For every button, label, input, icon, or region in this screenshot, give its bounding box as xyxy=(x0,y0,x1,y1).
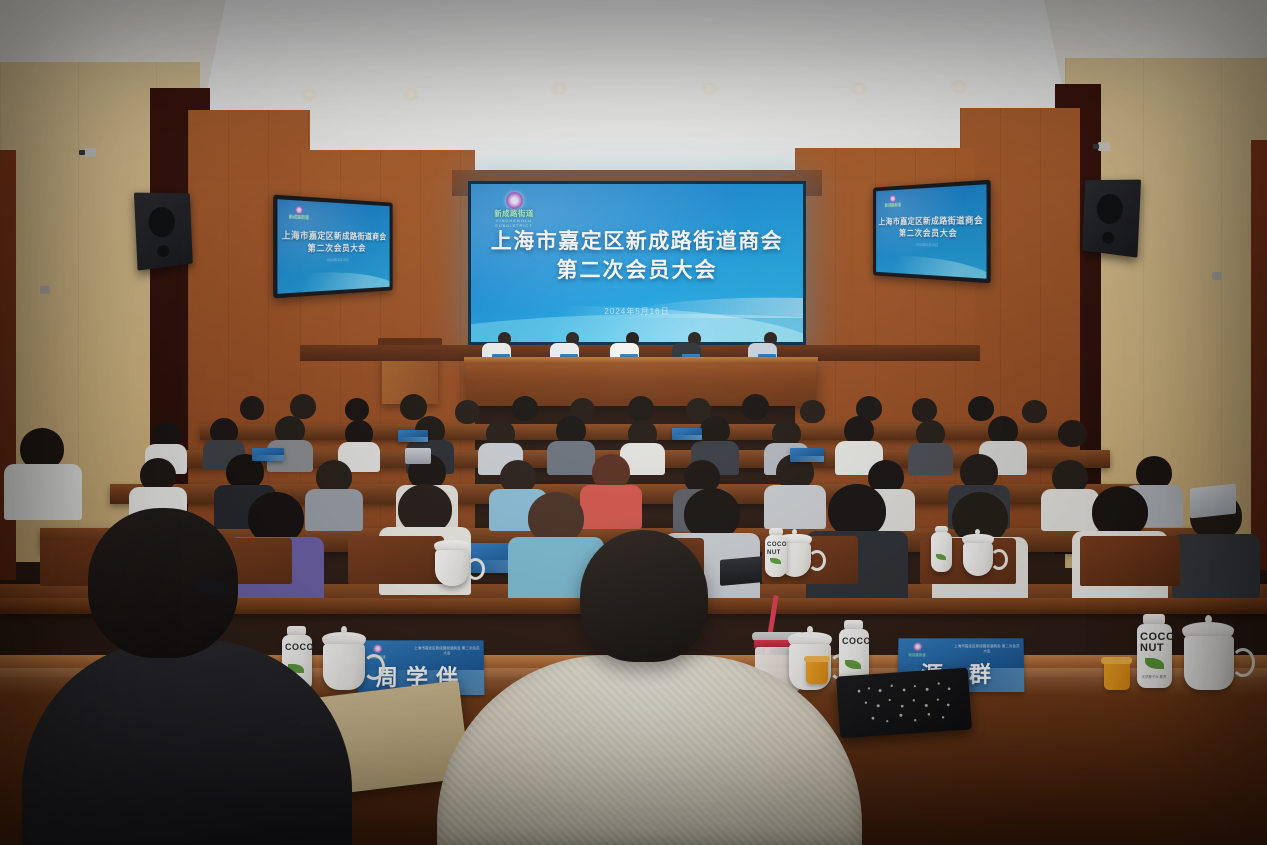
bottle-label-line1: COCO xyxy=(285,642,314,652)
ceiling-camera-icon xyxy=(84,148,96,157)
right-wall-speaker xyxy=(1082,180,1141,258)
laptop xyxy=(1190,484,1236,519)
tablet xyxy=(720,556,764,586)
screen-title-line1: 上海市嘉定区新成路街道商会 xyxy=(471,228,803,256)
downlight-icon xyxy=(402,88,420,101)
monitor-date: 2024年5月16日 xyxy=(876,242,986,249)
right-wall-monitor: 新成路街道 上海市嘉定区新成路街道商会 第二次会员大会 2024年5月16日 xyxy=(873,180,991,284)
downlight-icon xyxy=(300,88,318,101)
left-wall-monitor: 新成路街道 上海市嘉定区新成路街道商会 第二次会员大会 2024年5月16日 xyxy=(273,195,393,299)
left-wall-speaker xyxy=(134,193,193,271)
screen-date: 2024年5月16日 xyxy=(471,306,803,317)
nameplate xyxy=(672,428,702,440)
conference-hall-photo: 新成路街道 上海市嘉定区新成路街道商会 第二次会员大会 2024年5月16日 新… xyxy=(0,0,1267,845)
bottle-label-line2: NUT xyxy=(767,548,781,558)
nameplate-header: 上海市嘉定区新成路街道商会 第二次会员大会 xyxy=(414,646,480,656)
nameplate xyxy=(252,448,284,461)
nameplate xyxy=(790,448,824,462)
laptop xyxy=(405,448,431,464)
monitor-logo-text: 新成路街道 xyxy=(881,202,905,208)
monitor-logo-text: 新成路街道 xyxy=(284,214,314,220)
head-table-edge xyxy=(464,357,818,364)
monitor-title-line1: 上海市嘉定区新成路街道商会 xyxy=(277,230,389,243)
emblem-icon xyxy=(506,192,523,209)
wall-sensor-icon xyxy=(40,286,50,294)
screen-title-block: 上海市嘉定区新成路街道商会 第二次会员大会 xyxy=(471,228,803,286)
nameplate xyxy=(398,430,428,442)
orange-cup xyxy=(806,660,828,684)
downlight-icon xyxy=(700,82,718,95)
wall-sensor-icon xyxy=(1212,272,1222,280)
logo-subtitle: XINCHENGLU SUBDISTRICT xyxy=(483,218,545,228)
logo-word: 新成路街道 xyxy=(483,209,545,218)
screen-title-line2: 第二次会员大会 xyxy=(471,256,803,286)
nameplate-logo-icon xyxy=(913,642,922,651)
monitor-title-line1: 上海市嘉定区新成路街道商会 xyxy=(876,215,986,228)
downlight-icon xyxy=(850,82,868,95)
notebook-pattern xyxy=(847,676,962,730)
monitor-title-line2: 第二次会员大会 xyxy=(277,242,389,255)
bottle-label-line1: COCO xyxy=(842,636,871,646)
nameplate-logo-icon xyxy=(373,644,382,653)
ceiling-coffer-inner xyxy=(225,0,1045,120)
decorative-pattern-icon xyxy=(847,676,962,730)
screen-logo: 新成路街道 XINCHENGLU SUBDISTRICT xyxy=(483,192,545,224)
monitor-logo-icon xyxy=(295,206,303,215)
downlight-icon xyxy=(950,80,968,93)
black-notebook xyxy=(836,667,972,738)
downlight-icon xyxy=(550,82,568,95)
monitor-title-line2: 第二次会员大会 xyxy=(876,227,986,240)
foreground-person-center-head xyxy=(580,530,708,662)
monitor-date: 2024年5月16日 xyxy=(277,257,389,264)
main-led-screen: 新成路街道 XINCHENGLU SUBDISTRICT 上海市嘉定区新成路街道… xyxy=(471,184,803,342)
ceiling-camera-icon xyxy=(1098,142,1110,151)
